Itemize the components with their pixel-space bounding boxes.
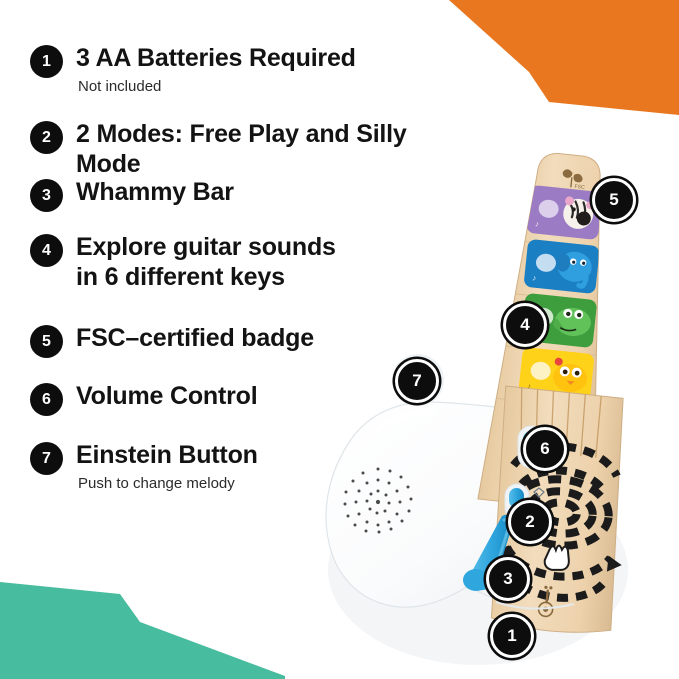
feature-item-6: 6 Volume Control <box>30 382 257 416</box>
feature-bullet-2: 2 <box>30 121 63 154</box>
callout-badge-2[interactable]: 2 <box>508 500 552 544</box>
feature-bullet-4: 4 <box>30 234 63 267</box>
feature-subtitle-1: Not included <box>78 77 356 97</box>
feature-title-4: Explore guitar sounds in 6 different key… <box>76 233 336 292</box>
feature-bullet-1: 1 <box>30 45 63 78</box>
teal-corner-decoration <box>0 564 285 679</box>
callout-badge-4[interactable]: 4 <box>503 303 547 347</box>
orange-corner-decoration <box>389 0 679 115</box>
feature-bullet-3: 3 <box>30 179 63 212</box>
callout-badge-1[interactable]: 1 <box>490 614 534 658</box>
callout-badge-5[interactable]: 5 <box>592 178 636 222</box>
feature-item-1: 1 3 AA Batteries Required Not included <box>30 44 356 96</box>
feature-item-5: 5 FSC–certified badge <box>30 324 314 358</box>
feature-title-1: 3 AA Batteries Required <box>76 44 356 74</box>
feature-bullet-7: 7 <box>30 442 63 475</box>
feature-item-4: 4 Explore guitar sounds in 6 different k… <box>30 233 336 292</box>
infographic-page: 1 3 AA Batteries Required Not included 2… <box>0 0 679 679</box>
callout-badge-7[interactable]: 7 <box>395 359 439 403</box>
feature-item-7: 7 Einstein Button Push to change melody <box>30 441 258 493</box>
callout-badge-3[interactable]: 3 <box>486 557 530 601</box>
guitar-key-2-elephant[interactable]: ♪ <box>523 239 600 294</box>
feature-title-5: FSC–certified badge <box>76 324 314 354</box>
feature-bullet-6: 6 <box>30 383 63 416</box>
feature-title-3: Whammy Bar <box>76 178 234 208</box>
guitar-key-1-zebra[interactable]: ♪ <box>526 185 603 240</box>
callout-badge-6[interactable]: 6 <box>523 427 567 471</box>
feature-bullet-5: 5 <box>30 325 63 358</box>
feature-title-6: Volume Control <box>76 382 257 412</box>
feature-title-7: Einstein Button <box>76 441 258 471</box>
feature-item-3: 3 Whammy Bar <box>30 178 234 212</box>
feature-subtitle-7: Push to change melody <box>78 474 258 494</box>
